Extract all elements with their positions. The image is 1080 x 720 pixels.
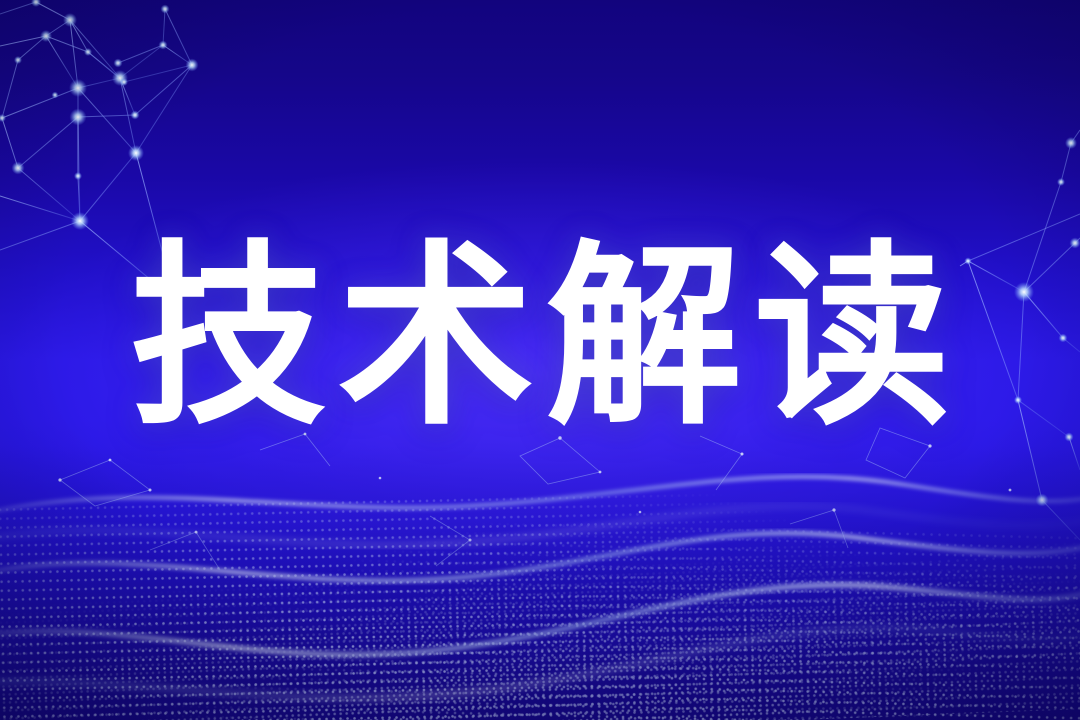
tech-banner: 技术解读 xyxy=(0,0,1080,720)
headline-container: 技术解读 xyxy=(0,240,1080,436)
page-title: 技术解读 xyxy=(118,240,962,436)
